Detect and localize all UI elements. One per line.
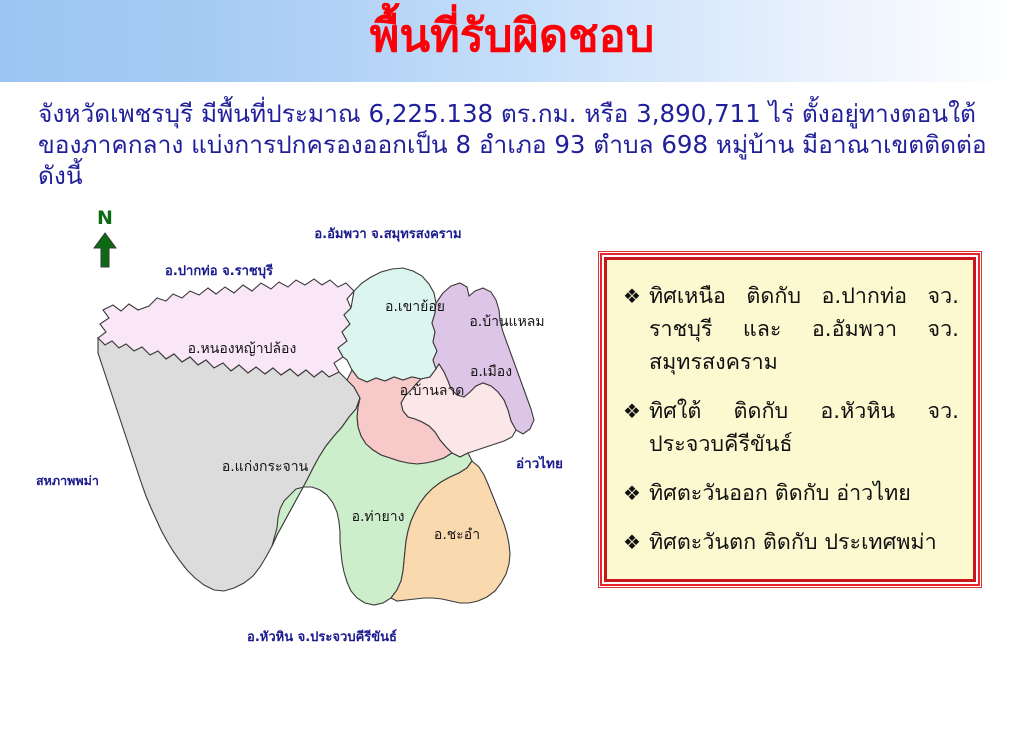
boundary-east-line1: ทิศตะวันออก ติดกับ อ่าวไทย xyxy=(649,481,911,506)
district-shape-khao-yoi xyxy=(338,268,437,382)
district-label-kaeng-krachan: อ.แก่งกระจาน xyxy=(222,459,309,475)
district-label-khao-yoi: อ.เขาย้อย xyxy=(385,299,445,315)
bullet-diamond-icon: ❖ xyxy=(623,477,649,510)
district-label-ban-lat: อ.บ้านลาด xyxy=(400,383,465,399)
boundary-north-line1: ทิศเหนือ ติดกับ อ.ปากท่อ จว. xyxy=(649,280,959,313)
boundary-south: ❖ ทิศใต้ ติดกับ อ.หัวหิน จว. ประจวบคีรีข… xyxy=(623,395,959,461)
boundary-west-line1: ทิศตะวันตก ติดกับ ประเทศพม่า xyxy=(649,530,937,555)
boundary-west: ❖ ทิศตะวันตก ติดกับ ประเทศพม่า xyxy=(623,526,959,559)
district-label-tha-yang: อ.ท่ายาง xyxy=(352,509,405,525)
boundary-south-line1: ทิศใต้ ติดกับ อ.หัวหิน จว. xyxy=(649,395,959,428)
label-amphawa-samutsongkhram: อ.อัมพวา จ.สมุทรสงคราม xyxy=(314,227,461,242)
district-label-nong-ya-plong: อ.หนองหญ้าปล้อง xyxy=(188,341,297,357)
district-label-cha-am: อ.ชะอำ xyxy=(434,527,480,543)
bullet-diamond-icon: ❖ xyxy=(623,280,649,313)
district-label-ban-laem: อ.บ้านแหลม xyxy=(469,314,544,330)
boundary-south-line2: ประจวบคีรีขันธ์ xyxy=(649,432,793,457)
label-union-of-myanmar: สหภาพพม่า xyxy=(36,473,99,488)
page-title: พื้นที่รับผิดชอบ xyxy=(0,4,1024,68)
boundary-north: ❖ ทิศเหนือ ติดกับ อ.ปากท่อ จว. ราชบุรี แ… xyxy=(623,280,959,379)
boundary-description-box: ❖ ทิศเหนือ ติดกับ อ.ปากท่อ จว. ราชบุรี แ… xyxy=(604,257,976,582)
boundary-north-line2: ราชบุรี และ อ.อัมพวา จว. xyxy=(649,313,959,346)
label-pakthho-ratchaburi: อ.ปากท่อ จ.ราชบุรี xyxy=(165,263,273,279)
bullet-diamond-icon: ❖ xyxy=(623,526,649,559)
north-letter: N xyxy=(97,207,113,229)
label-huahin-prachuap: อ.หัวหิน จ.ประจวบคีรีขันธ์ xyxy=(247,629,397,645)
bullet-diamond-icon: ❖ xyxy=(623,395,649,428)
label-gulf-of-thailand: อ่าวไทย xyxy=(516,455,563,472)
boundary-east: ❖ ทิศตะวันออก ติดกับ อ่าวไทย xyxy=(623,477,959,510)
map-figure: N อ.อัมพวา จ.สมุทรสงคราม อ.ปากท่อ จ.ราชบ… xyxy=(20,205,600,660)
district-label-mueang: อ.เมือง xyxy=(470,364,512,380)
intro-paragraph: จังหวัดเพชรบุรี มีพื้นที่ประมาณ 6,225.13… xyxy=(38,98,998,191)
boundary-north-line3: สมุทรสงคราม xyxy=(649,350,778,375)
north-arrow-icon xyxy=(94,233,116,267)
